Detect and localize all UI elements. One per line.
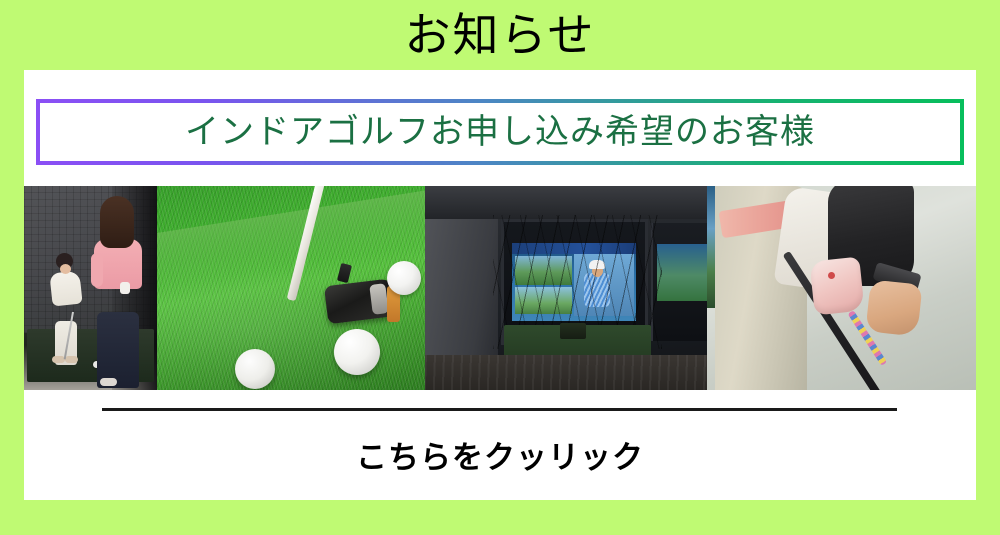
photo-gallery bbox=[24, 186, 976, 390]
photo-indoor-practice-two-women bbox=[24, 186, 157, 390]
notice-banner-page: お知らせ インドアゴルフお申し込み希望のお客様 bbox=[0, 0, 1000, 535]
headline-box: インドアゴルフお申し込み希望のお客様 bbox=[36, 99, 964, 165]
photo1-student-shoe bbox=[100, 378, 117, 386]
photo4-glove-logo bbox=[828, 272, 835, 279]
photo3-projection-screen bbox=[512, 243, 636, 321]
photo3-ceiling bbox=[425, 186, 707, 219]
photo1-student-arm bbox=[91, 253, 103, 287]
photo4-instructor-hand bbox=[866, 279, 923, 336]
photo1-student-hair bbox=[100, 196, 134, 248]
photo-lesson-hands-on-grip bbox=[707, 186, 976, 390]
photo3-screen-golfer-cap bbox=[589, 260, 605, 269]
page-title: お知らせ bbox=[0, 4, 1000, 70]
cta-text[interactable]: こちらをクッリック bbox=[24, 432, 976, 477]
headline-text: インドアゴルフお申し込み希望のお客様 bbox=[185, 115, 815, 149]
photo4-golf-glove bbox=[809, 257, 864, 316]
photo3-screen-course-view-2 bbox=[515, 287, 572, 313]
photo1-coach-face bbox=[60, 264, 71, 274]
photo1-coach-shoe-right bbox=[65, 356, 78, 363]
photo1-coach-torso bbox=[49, 270, 82, 306]
notice-card: インドアゴルフお申し込み希望のお客様 bbox=[24, 70, 976, 500]
photo3-screen-golfer-body bbox=[584, 273, 610, 307]
photo-driver-and-golf-balls-on-turf bbox=[157, 186, 425, 390]
photo3-screen-header bbox=[512, 243, 636, 254]
photo2-golf-ball-b bbox=[334, 329, 380, 375]
cta-divider bbox=[102, 408, 897, 411]
photo3-adjacent-bay bbox=[651, 223, 707, 341]
photo3-adjacent-screen bbox=[657, 244, 707, 301]
headline-inner: インドアゴルフお申し込み希望のお客様 bbox=[40, 103, 960, 161]
photo3-mat-block bbox=[560, 323, 586, 339]
photo2-golf-ball-c bbox=[235, 349, 275, 389]
photo3-floor bbox=[425, 355, 707, 390]
photo-golf-simulator-bay bbox=[425, 186, 707, 390]
photo1-student-glove bbox=[120, 282, 130, 294]
photo3-screen-course-view-1 bbox=[515, 256, 572, 285]
